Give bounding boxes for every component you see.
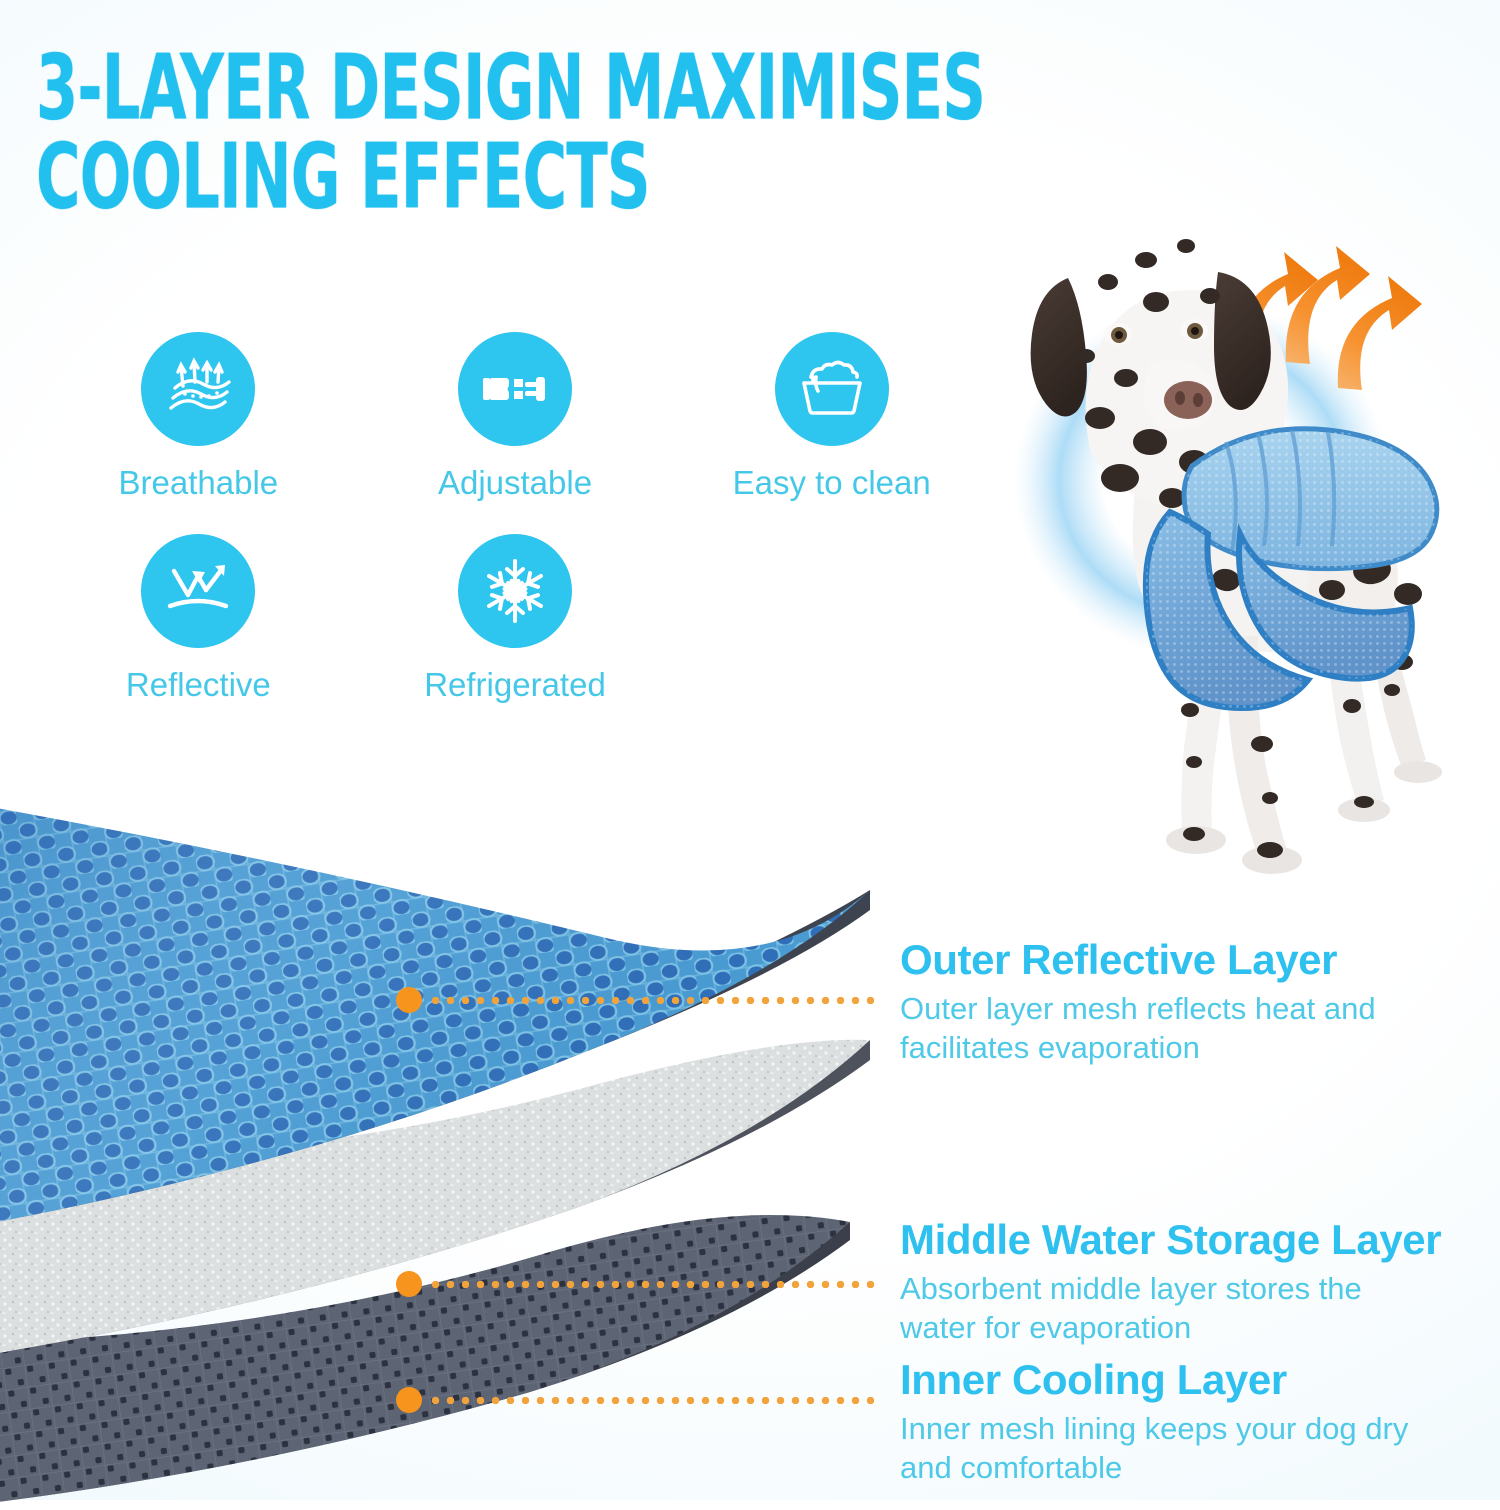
callout-description: Inner mesh lining keeps your dog dry and… <box>900 1409 1410 1488</box>
layer-diagram <box>0 740 890 1510</box>
leader-line-outer <box>396 996 874 1004</box>
callout-inner-cooling-layer: Inner Cooling Layer Inner mesh lining ke… <box>900 1358 1410 1488</box>
feature-refrigerated: Refrigerated <box>357 534 674 704</box>
leader-line-inner <box>396 1396 874 1404</box>
feature-row-1: Breathable Adjustable <box>40 332 990 534</box>
feature-label: Reflective <box>126 666 271 704</box>
product-photo <box>940 150 1500 910</box>
feature-adjustable: Adjustable <box>357 332 674 502</box>
callout-title: Middle Water Storage Layer <box>900 1218 1441 1263</box>
leader-dot <box>396 1271 422 1297</box>
feature-label: Adjustable <box>438 464 592 502</box>
leader-dash <box>428 1397 874 1404</box>
feature-row-2: Reflective <box>40 534 990 736</box>
leader-dash <box>428 1281 874 1288</box>
leader-dot <box>396 987 422 1013</box>
breathable-fabric-icon <box>141 332 255 446</box>
leader-dot <box>396 1387 422 1413</box>
leader-dash <box>428 997 874 1004</box>
callout-title: Outer Reflective Layer <box>900 938 1400 983</box>
leader-line-middle <box>396 1280 874 1288</box>
feature-breathable: Breathable <box>40 332 357 502</box>
callout-middle-water-storage-layer: Middle Water Storage Layer Absorbent mid… <box>900 1218 1441 1348</box>
callout-outer-reflective-layer: Outer Reflective Layer Outer layer mesh … <box>900 938 1400 1068</box>
snowflake-icon <box>458 534 572 648</box>
feature-reflective: Reflective <box>40 534 357 704</box>
callout-description: Outer layer mesh reflects heat and facil… <box>900 989 1400 1068</box>
wash-basin-icon <box>775 332 889 446</box>
feature-label: Breathable <box>119 464 279 502</box>
feature-label: Easy to clean <box>733 464 931 502</box>
feature-label: Refrigerated <box>424 666 606 704</box>
buckle-icon <box>458 332 572 446</box>
feature-list: Breathable Adjustable <box>40 332 990 736</box>
callout-description: Absorbent middle layer stores the water … <box>900 1269 1410 1348</box>
headline-line-2: COOLING EFFECTS <box>36 132 1004 220</box>
page-title: 3-LAYER DESIGN MAXIMISES COOLING EFFECTS <box>36 44 1004 221</box>
callout-title: Inner Cooling Layer <box>900 1358 1410 1403</box>
reflect-arrows-icon <box>141 534 255 648</box>
